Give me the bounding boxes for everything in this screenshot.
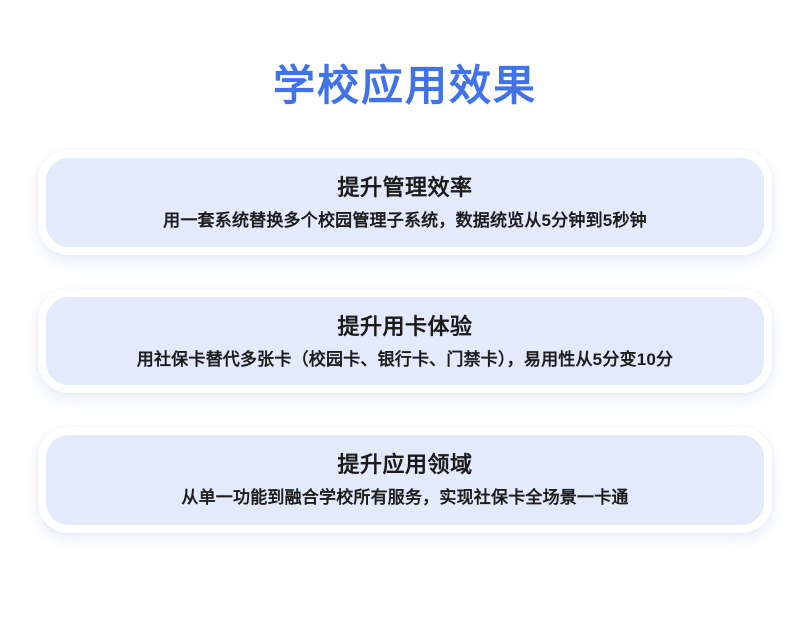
benefit-card-2-surface: 提升用卡体验 用社保卡替代多张卡（校园卡、银行卡、门禁卡），易用性从5分变10分 bbox=[46, 297, 764, 385]
benefit-card-3-body: 从单一功能到融合学校所有服务，实现社保卡全场景一卡通 bbox=[70, 485, 740, 511]
page-title: 学校应用效果 bbox=[0, 58, 810, 114]
benefit-card-1-body: 用一套系统替换多个校园管理子系统，数据统览从5分钟到5秒钟 bbox=[70, 208, 740, 234]
benefit-card-1[interactable]: 提升管理效率 用一套系统替换多个校园管理子系统，数据统览从5分钟到5秒钟 bbox=[38, 150, 772, 255]
benefit-card-2-heading: 提升用卡体验 bbox=[70, 311, 740, 343]
benefit-card-1-surface: 提升管理效率 用一套系统替换多个校园管理子系统，数据统览从5分钟到5秒钟 bbox=[46, 158, 764, 247]
benefit-card-2[interactable]: 提升用卡体验 用社保卡替代多张卡（校园卡、银行卡、门禁卡），易用性从5分变10分 bbox=[38, 289, 772, 393]
benefit-card-2-body: 用社保卡替代多张卡（校园卡、银行卡、门禁卡），易用性从5分变10分 bbox=[70, 347, 740, 373]
benefit-card-3-surface: 提升应用领域 从单一功能到融合学校所有服务，实现社保卡全场景一卡通 bbox=[46, 435, 764, 525]
poster-canvas: 学校应用效果 提升管理效率 用一套系统替换多个校园管理子系统，数据统览从5分钟到… bbox=[0, 0, 810, 622]
benefit-card-3-heading: 提升应用领域 bbox=[70, 449, 740, 481]
benefit-card-list: 提升管理效率 用一套系统替换多个校园管理子系统，数据统览从5分钟到5秒钟 提升用… bbox=[38, 150, 772, 533]
benefit-card-1-heading: 提升管理效率 bbox=[70, 172, 740, 204]
benefit-card-3[interactable]: 提升应用领域 从单一功能到融合学校所有服务，实现社保卡全场景一卡通 bbox=[38, 427, 772, 533]
